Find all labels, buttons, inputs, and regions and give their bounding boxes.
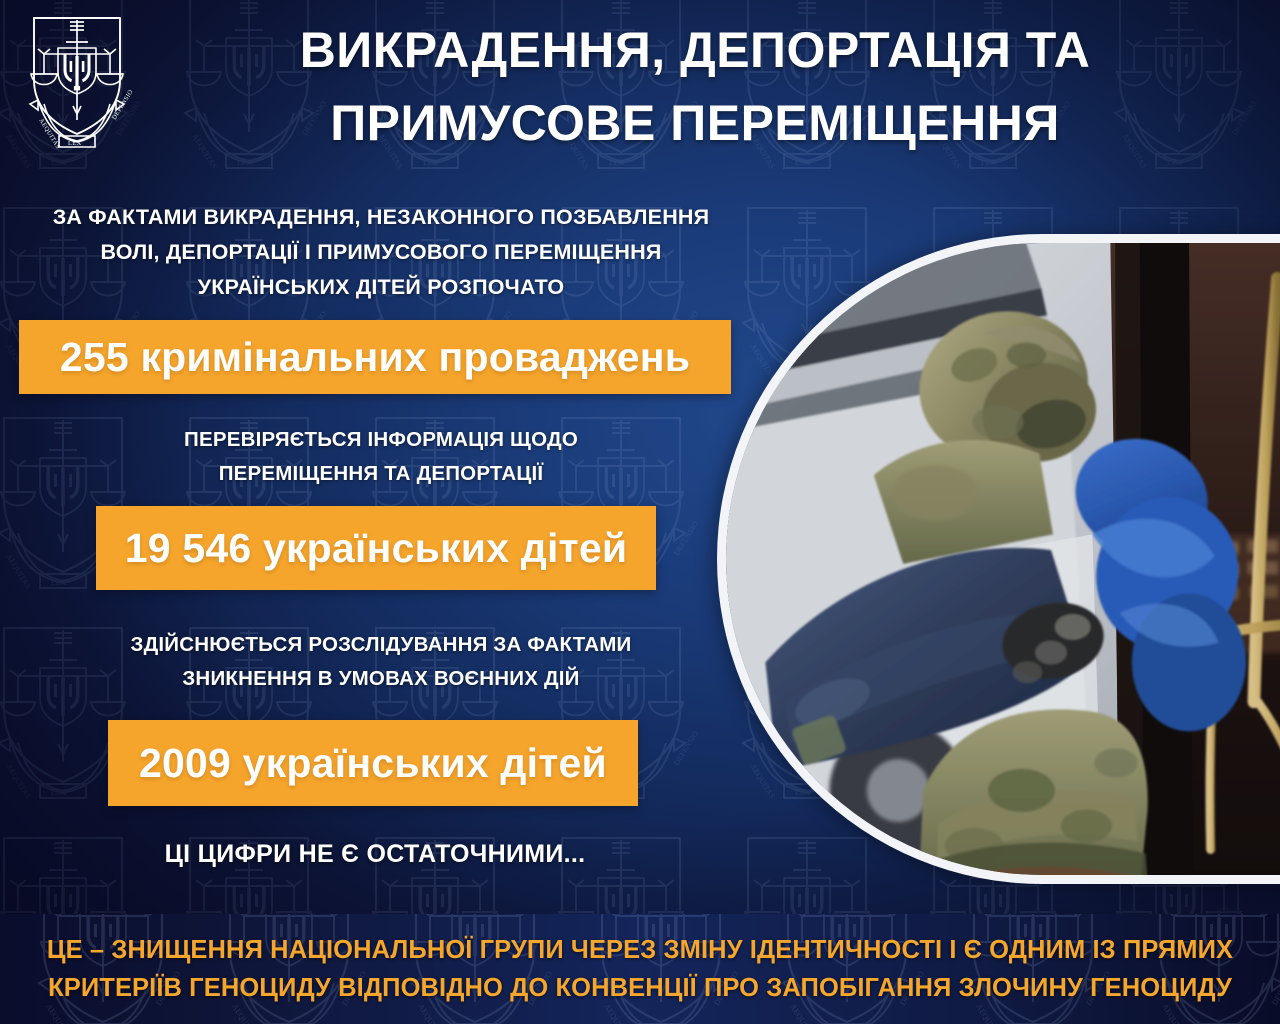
caption-deportation-info: ПЕРЕВІРЯЄТЬСЯ ІНФОРМАЦІЯ ЩОДО ПЕРЕМІЩЕНН…	[0, 423, 762, 492]
bottom-banner: ЦЕ – ЗНИЩЕННЯ НАЦІОНАЛЬНОЇ ГРУПИ ЧЕРЕЗ З…	[0, 914, 1280, 1024]
banner-line-2: КРИТЕРІЇВ ГЕНОЦИДУ ВІДПОВІДНО ДО КОНВЕНЦ…	[48, 969, 1232, 1007]
page-title: ВИКРАДЕННЯ, ДЕПОРТАЦІЯ ТА ПРИМУСОВЕ ПЕРЕ…	[150, 14, 1240, 159]
infographic-poster: AEQUITAS LEX DEFENSIO ВИКРАДЕННЯ, ДЕПОРТ…	[0, 0, 1280, 1024]
title-line-1: ВИКРАДЕННЯ, ДЕПОРТАЦІЯ ТА	[150, 14, 1240, 87]
lead-paragraph: ЗА ФАКТАМИ ВИКРАДЕННЯ, НЕЗАКОННОГО ПОЗБА…	[0, 200, 762, 304]
emblem-motto-center: LEX	[68, 140, 82, 147]
caption-2-line-1: ЗДІЙСНЮЄТЬСЯ РОЗСЛІДУВАННЯ ЗА ФАКТАМИ	[0, 628, 762, 662]
banner-line-1: ЦЕ – ЗНИЩЕННЯ НАЦІОНАЛЬНОЇ ГРУПИ ЧЕРЕЗ З…	[47, 931, 1233, 969]
lead-line-1: ЗА ФАКТАМИ ВИКРАДЕННЯ, НЕЗАКОННОГО ПОЗБА…	[0, 200, 762, 235]
stat-bar-criminal-proceedings: 255 кримінальних проваджень	[19, 320, 731, 394]
prosecutor-emblem-logo: AEQUITAS LEX DEFENSIO	[18, 8, 136, 154]
stat-value-deported-children: 19 546 українських дітей	[125, 525, 628, 572]
stat-value-missing-children: 2009 українських дітей	[139, 740, 607, 787]
photo-image	[726, 243, 1280, 875]
stat-bar-deported-children: 19 546 українських дітей	[96, 506, 656, 590]
stat-bar-missing-children: 2009 українських дітей	[108, 720, 638, 806]
caption-1-line-2: ПЕРЕМІЩЕННЯ ТА ДЕПОРТАЦІЇ	[0, 457, 762, 491]
title-line-2: ПРИМУСОВЕ ПЕРЕМІЩЕННЯ	[150, 87, 1240, 160]
closing-note: ЦІ ЦИФРИ НЕ Є ОСТАТОЧНИМИ...	[0, 840, 750, 869]
caption-1-line-1: ПЕРЕВІРЯЄТЬСЯ ІНФОРМАЦІЯ ЩОДО	[0, 423, 762, 457]
caption-2-line-2: ЗНИКНЕННЯ В УМОВАХ ВОЄННИХ ДІЙ	[0, 662, 762, 696]
stat-value-criminal-proceedings: 255 кримінальних проваджень	[60, 334, 690, 381]
lead-line-2: ВОЛІ, ДЕПОРТАЦІЇ І ПРИМУСОВОГО ПЕРЕМІЩЕН…	[0, 235, 762, 270]
lead-line-3: УКРАЇНСЬКИХ ДІТЕЙ РОЗПОЧАТО	[0, 270, 762, 305]
caption-missing-investigation: ЗДІЙСНЮЄТЬСЯ РОЗСЛІДУВАННЯ ЗА ФАКТАМИ ЗН…	[0, 628, 762, 697]
